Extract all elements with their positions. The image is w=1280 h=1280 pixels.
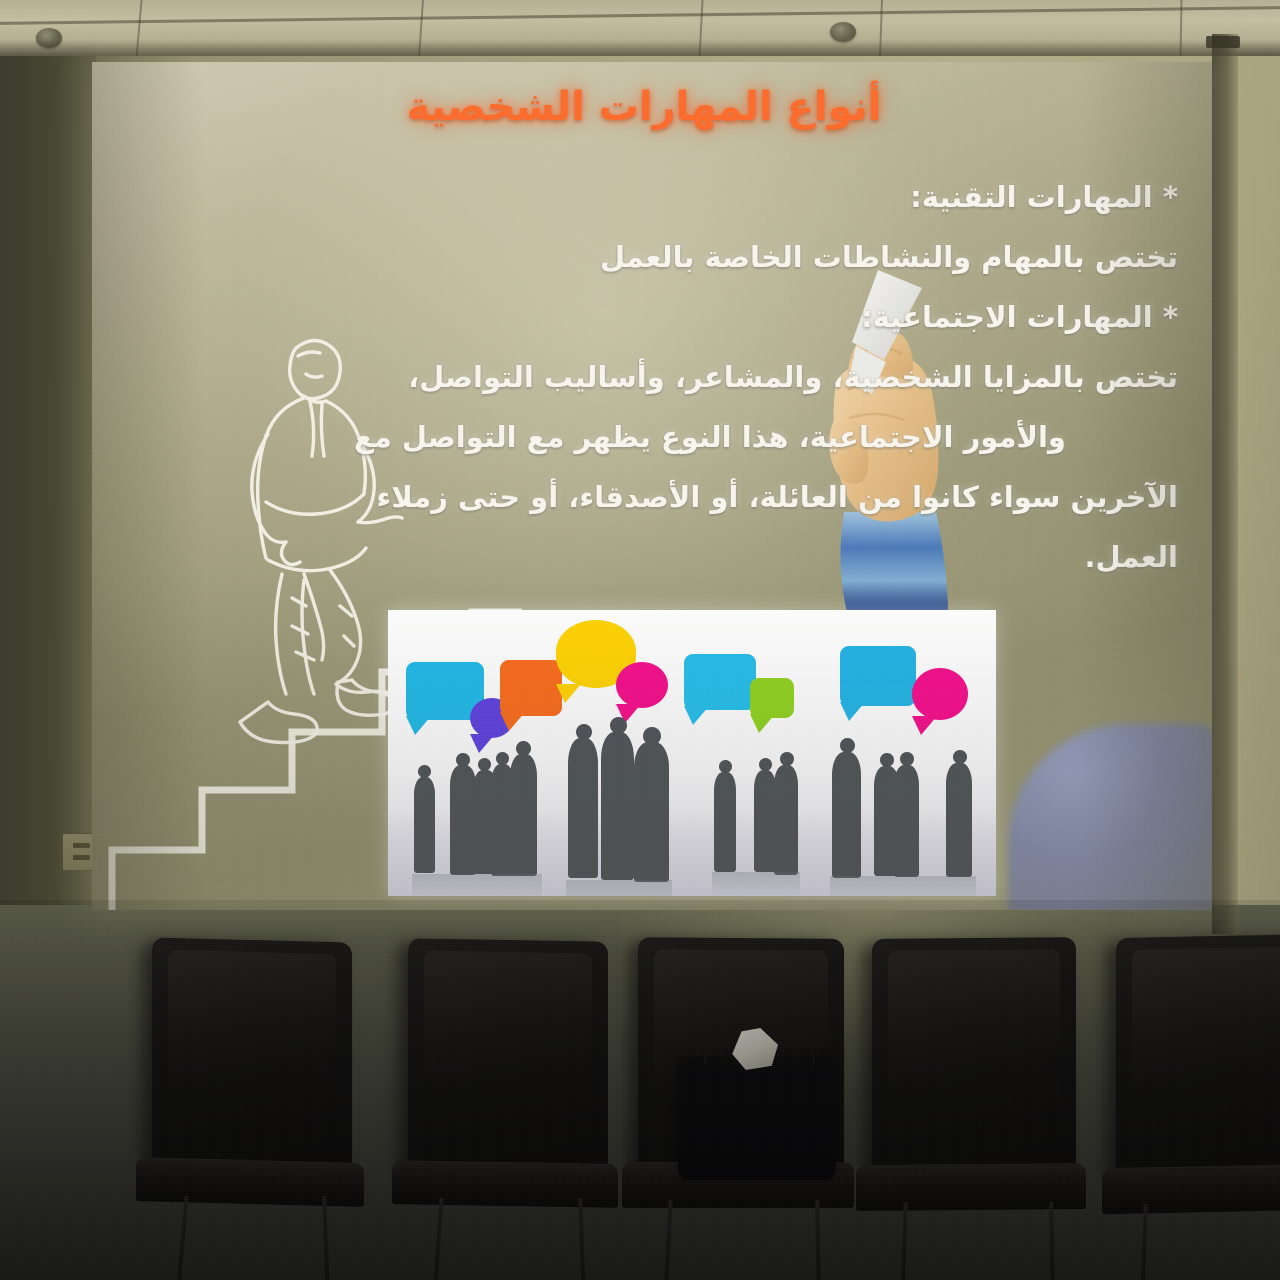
silhouette xyxy=(774,765,798,875)
body-line-6: الآخرين سواء كانوا من العائلة، أو الأصدق… xyxy=(242,474,1178,521)
silhouette xyxy=(946,763,972,877)
projection-screen-edge xyxy=(1212,34,1238,934)
silhouette xyxy=(900,752,914,766)
body-line-5: والأمور الاجتماعية، هذا النوع يظهر مع ال… xyxy=(242,414,1178,461)
blue-shoulder-silhouette xyxy=(1008,724,1212,910)
wall-dark-edge xyxy=(0,56,96,936)
silhouette xyxy=(880,753,894,767)
bubble-cyan-3 xyxy=(840,646,916,706)
bubble-magenta-1 xyxy=(616,662,668,708)
projection-screen-mount xyxy=(1206,36,1240,48)
chair xyxy=(386,910,626,1280)
silhouette xyxy=(754,770,776,872)
silhouette xyxy=(832,752,861,878)
chair xyxy=(1098,910,1280,1280)
chair xyxy=(850,910,1100,1280)
ceiling-light xyxy=(830,22,856,42)
body-line-2: تختص بالمهام والنشاطات الخاصة بالعمل xyxy=(242,234,1178,281)
silhouette xyxy=(601,732,634,880)
silhouette xyxy=(894,765,919,877)
chair-with-bag xyxy=(616,910,866,1280)
room-scene: أنواع المهارات الشخصية * المهارات التقني… xyxy=(0,0,1280,1280)
silhouette xyxy=(634,742,669,882)
slide-title: أنواع المهارات الشخصية xyxy=(122,84,1166,130)
bubble-green xyxy=(750,678,794,718)
silhouette xyxy=(568,738,598,878)
silhouette-reflection xyxy=(830,876,976,896)
body-line-3: * المهارات الاجتماعية: xyxy=(242,294,1178,341)
silhouette xyxy=(414,777,435,873)
body-line-4: تختص بالمزايا الشخصية، والمشاعر، وأساليب… xyxy=(242,354,1178,401)
silhouette-reflection xyxy=(412,874,542,896)
speech-bubble-photo xyxy=(388,610,996,896)
silhouette xyxy=(714,772,736,872)
body-line-1: * المهارات التقنية: xyxy=(242,174,1178,221)
body-line-7: العمل. xyxy=(242,534,1178,581)
silhouette xyxy=(780,752,794,766)
projected-slide: أنواع المهارات الشخصية * المهارات التقني… xyxy=(92,62,1212,910)
silhouette-reflection xyxy=(712,872,800,896)
bubble-magenta-2 xyxy=(912,668,968,720)
silhouette xyxy=(840,738,855,753)
black-bag xyxy=(678,1060,836,1180)
bag-handle xyxy=(704,1050,707,1066)
silhouette xyxy=(510,754,537,876)
bubble-orange xyxy=(500,660,562,716)
chair xyxy=(128,910,368,1280)
bag-handle xyxy=(812,1052,815,1068)
silhouette xyxy=(953,750,967,764)
silhouette-reflection xyxy=(566,880,672,896)
slide-body: * المهارات التقنية: تختص بالمهام والنشاط… xyxy=(242,174,1178,594)
bubble-cyan-2 xyxy=(684,654,756,710)
